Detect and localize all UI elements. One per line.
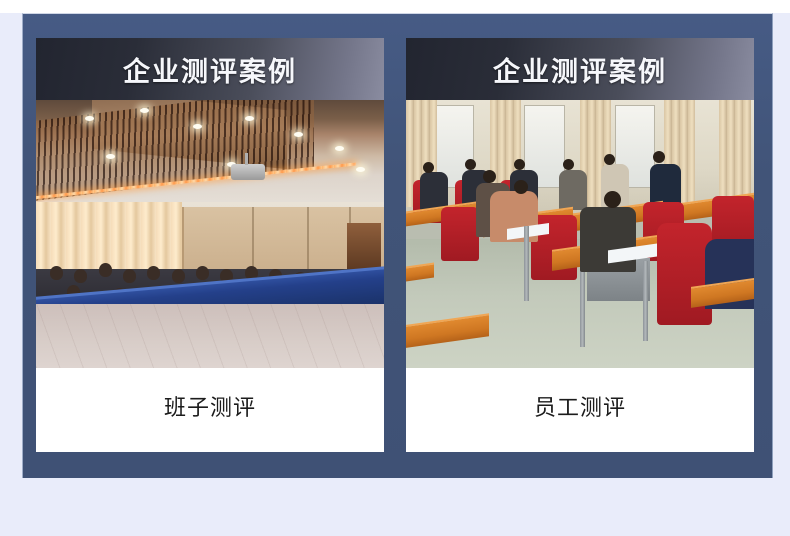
ceiling-downlight bbox=[335, 146, 344, 151]
classroom-desk-leg bbox=[580, 261, 585, 347]
speaker-podium bbox=[347, 223, 381, 269]
attendee-head bbox=[604, 154, 615, 165]
card-banner-title: 企业测评案例 bbox=[123, 50, 297, 89]
card-banner-employee: 企业测评案例 bbox=[406, 38, 754, 100]
attendee-head bbox=[514, 159, 525, 170]
attendee-head bbox=[50, 266, 63, 280]
ceiling-downlight bbox=[85, 116, 94, 121]
card-caption-employee: 员工测评 bbox=[406, 368, 754, 452]
classroom-chair bbox=[441, 207, 479, 261]
ceiling-downlight bbox=[193, 124, 202, 129]
carpet-pattern bbox=[36, 304, 384, 368]
card-banner-title: 企业测评案例 bbox=[493, 50, 667, 89]
attendee-head bbox=[423, 162, 434, 173]
conference-hall-assessment-photo bbox=[36, 100, 384, 368]
card-caption-leadership: 班子测评 bbox=[36, 368, 384, 452]
attendee-head bbox=[172, 269, 185, 283]
classroom-curtain bbox=[719, 100, 750, 207]
attendee-head bbox=[99, 263, 112, 277]
classroom-attendee bbox=[420, 172, 448, 210]
page-root: 企业测评案例 bbox=[0, 0, 790, 536]
attendee-head bbox=[123, 269, 136, 283]
classroom-desk-leg bbox=[524, 226, 529, 301]
attendee-head bbox=[563, 159, 574, 170]
attendee-head bbox=[74, 269, 87, 283]
assessment-case-card-employee[interactable]: 企业测评案例 bbox=[406, 38, 754, 452]
classroom-desk-leg bbox=[643, 261, 648, 341]
attendee-head bbox=[483, 170, 496, 183]
ceiling-downlight bbox=[245, 116, 254, 121]
classroom-chair bbox=[657, 223, 713, 325]
card-caption-text: 班子测评 bbox=[164, 390, 256, 422]
attendee-head bbox=[196, 266, 209, 280]
assessment-case-cards-row: 企业测评案例 bbox=[36, 38, 755, 452]
ceiling-downlight bbox=[106, 154, 115, 159]
ceiling-downlight bbox=[294, 132, 303, 137]
classroom-attendee bbox=[559, 170, 587, 210]
attendee-head bbox=[653, 151, 665, 163]
classroom-exam-assessment-photo bbox=[406, 100, 754, 368]
card-banner-leadership: 企业测评案例 bbox=[36, 38, 384, 100]
assessment-case-card-leadership[interactable]: 企业测评案例 bbox=[36, 38, 384, 452]
ceiling-projector bbox=[231, 164, 265, 180]
card-caption-text: 员工测评 bbox=[534, 390, 626, 422]
